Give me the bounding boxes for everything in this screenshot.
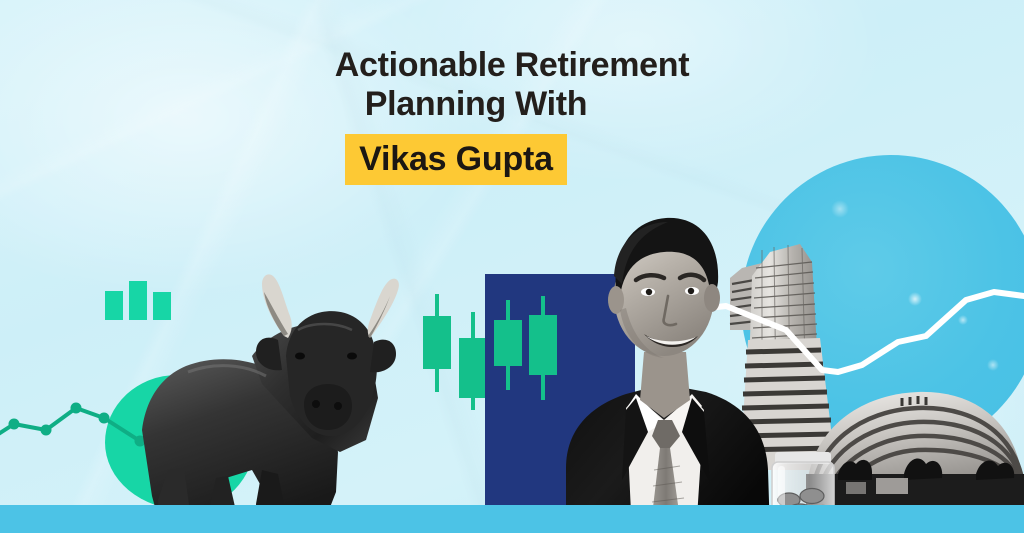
title-line-1: Actionable Retirement (0, 46, 1024, 85)
webinar-banner: Actionable Retirement Planning With Vika… (0, 0, 1024, 533)
title-line-2: Planning With (0, 85, 1024, 124)
title-block: Actionable Retirement Planning With Vika… (0, 46, 1024, 185)
bottom-cyan-strip (0, 505, 1024, 533)
speaker-name-row: Vikas Gupta (0, 134, 1024, 185)
speaker-name-highlight: Vikas Gupta (345, 134, 567, 185)
